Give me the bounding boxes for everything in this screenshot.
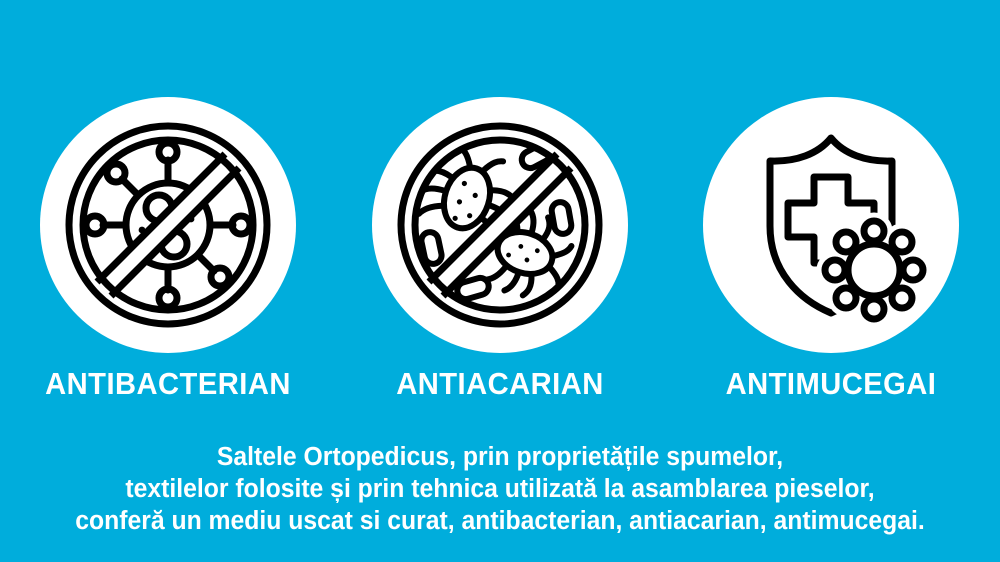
feature-row: ANTIBACTERIAN	[0, 97, 1000, 427]
feature-label-antimucegai: ANTIMUCEGAI	[673, 365, 989, 403]
tagline: Saltele Ortopedicus, prin proprietățile …	[0, 441, 1000, 537]
icon-disc-antiacarian	[372, 97, 628, 353]
feature-label-antibacterian: ANTIBACTERIAN	[10, 365, 326, 403]
feature-antimucegai: ANTIMUCEGAI	[703, 97, 959, 427]
no-dust-mite-icon	[395, 120, 605, 330]
feature-antiacarian: ANTIACARIAN	[372, 97, 628, 427]
shield-cross-mold-icon	[726, 120, 936, 330]
icon-disc-antibacterian	[40, 97, 296, 353]
promo-banner: ANTIBACTERIAN	[0, 0, 1000, 562]
icon-disc-antimucegai	[703, 97, 959, 353]
feature-label-antiacarian: ANTIACARIAN	[342, 365, 658, 403]
tagline-line-2: textilelor folosite și prin tehnica util…	[15, 473, 985, 505]
tagline-line-1: Saltele Ortopedicus, prin proprietățile …	[15, 441, 985, 473]
feature-antibacterian: ANTIBACTERIAN	[40, 97, 296, 427]
tagline-line-3: conferă un mediu uscat si curat, antibac…	[15, 505, 985, 537]
no-bacteria-icon	[63, 120, 273, 330]
mold-germ	[824, 220, 924, 320]
